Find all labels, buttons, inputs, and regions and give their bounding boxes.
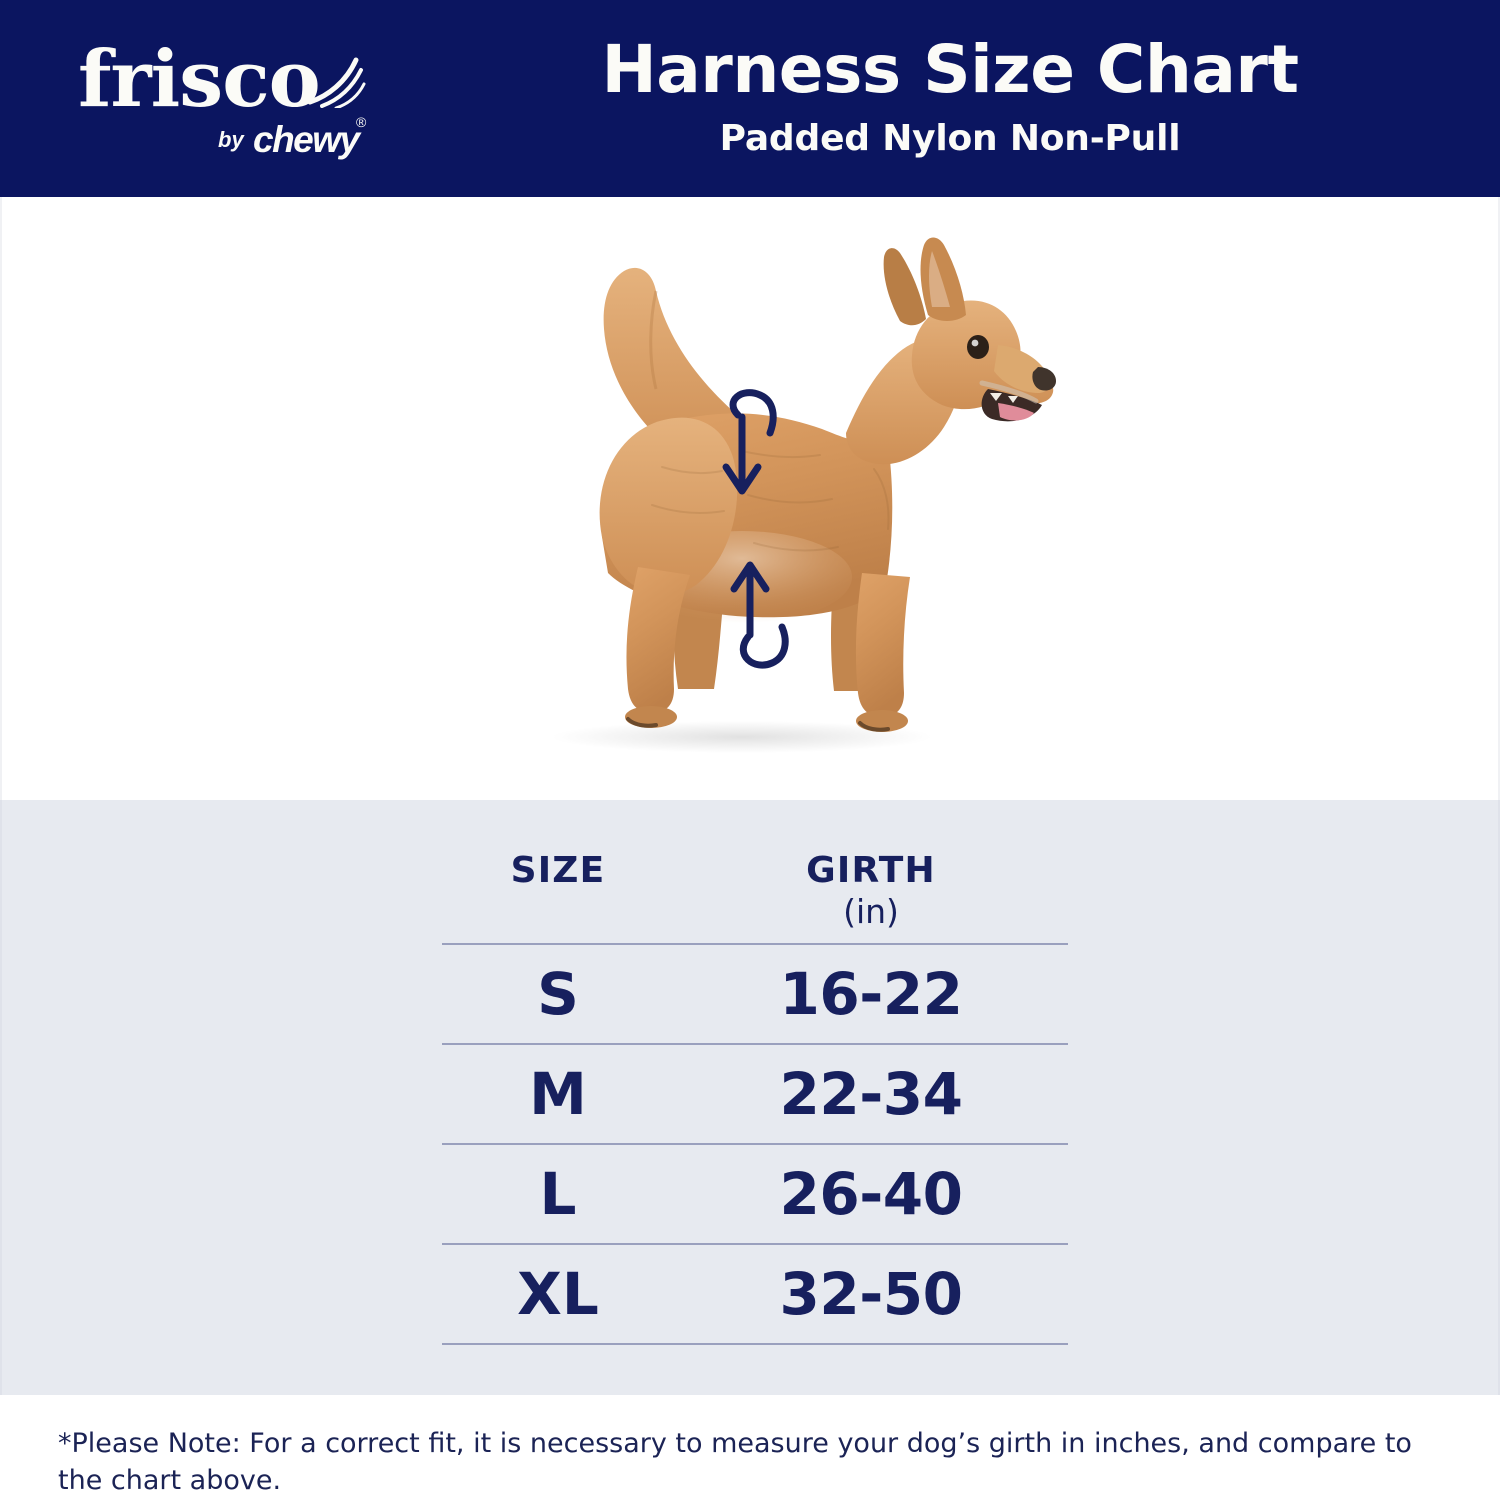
page-subtitle: Padded Nylon Non-Pull: [420, 117, 1480, 161]
size-chart-page: frisco ® by chewy Harness Size Chart Pad…: [0, 0, 1500, 1500]
column-header-girth-word: GIRTH: [674, 850, 1068, 892]
cell-size: XL: [442, 1260, 674, 1328]
cell-girth: 22-34: [674, 1060, 1068, 1128]
size-table-section: SIZE GIRTH (in) S 16-22 M 22-34 L 26-40: [0, 800, 1500, 1395]
page-title: Harness Size Chart: [420, 33, 1480, 107]
table-row: L 26-40: [442, 1145, 1068, 1243]
table-header-row: SIZE GIRTH (in): [442, 838, 1068, 943]
dog-photo: [442, 237, 1082, 762]
column-header-size: SIZE: [442, 838, 674, 891]
frisco-logo[interactable]: frisco ® by chewy: [78, 34, 378, 164]
table-row: M 22-34: [442, 1045, 1068, 1143]
table-row: XL 32-50: [442, 1245, 1068, 1343]
table-row: S 16-22: [442, 945, 1068, 1043]
cell-girth: 26-40: [674, 1160, 1068, 1228]
table-divider: [442, 1343, 1068, 1345]
logo-by-text: by: [218, 127, 244, 153]
footnote-text: *Please Note: For a correct fit, it is n…: [58, 1425, 1428, 1499]
header-bar: frisco ® by chewy Harness Size Chart Pad…: [0, 0, 1500, 197]
cell-girth: 32-50: [674, 1260, 1068, 1328]
column-header-girth-unit: (in): [674, 892, 1068, 932]
dog-illustration: [442, 237, 1082, 762]
size-table: SIZE GIRTH (in) S 16-22 M 22-34 L 26-40: [442, 838, 1068, 1345]
cell-girth: 16-22: [674, 960, 1068, 1028]
logo-chewy-text: chewy: [253, 119, 359, 161]
column-header-girth: GIRTH (in): [674, 838, 1068, 932]
photo-section: GIRTH: [0, 197, 1500, 800]
cell-size: M: [442, 1060, 674, 1128]
cell-size: L: [442, 1160, 674, 1228]
brand-wordmark: frisco: [78, 34, 320, 126]
cell-size: S: [442, 960, 674, 1028]
